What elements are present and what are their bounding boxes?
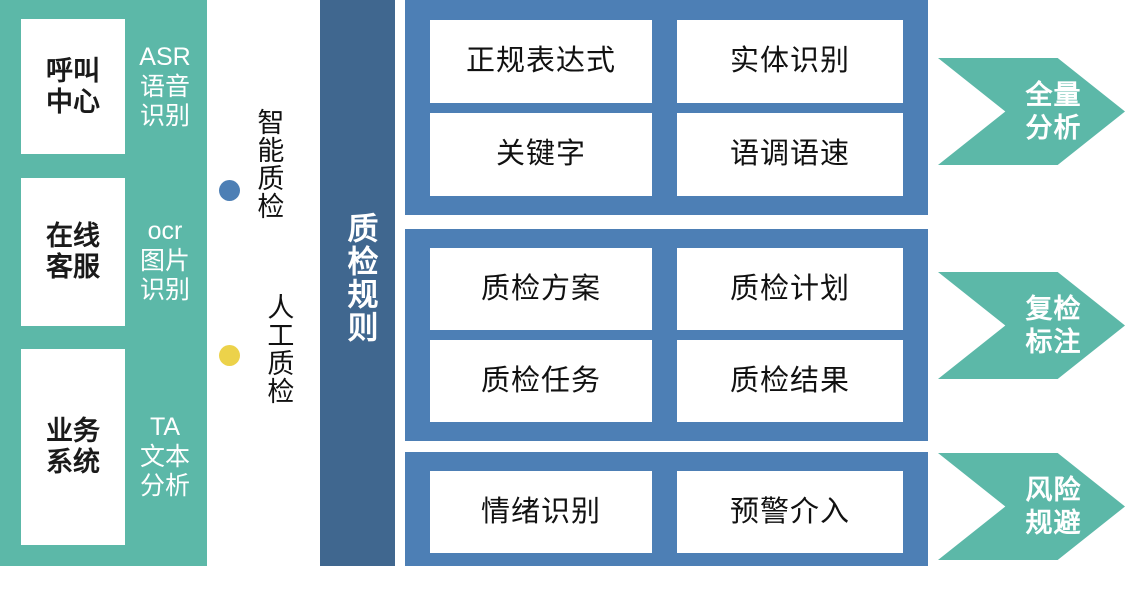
rule-cell-label: 质检任务 <box>481 367 601 396</box>
source-tag-asr: ASR 语音 识别 <box>130 43 200 132</box>
rule-cell[interactable]: 语调语速 <box>677 113 903 196</box>
rule-cell[interactable]: 实体识别 <box>677 20 903 103</box>
outcome-chevron-full-analysis[interactable]: 全量分析 <box>938 58 1125 165</box>
rule-cell-label: 正规表达式 <box>466 47 616 76</box>
mode-label-manual: 人工质检 <box>262 293 293 453</box>
diagram-canvas: 呼叫中心 ASR 语音 识别 在线客服 ocr 图片 识别 业务系统 TA 文本… <box>0 0 1129 603</box>
outcome-chevron-risk-avoidance[interactable]: 风险规避 <box>938 453 1125 560</box>
outcome-label: 全量分析 <box>1026 79 1082 144</box>
source-tag-line: 图片 <box>130 247 200 277</box>
rule-cell-label: 关键字 <box>496 140 586 169</box>
rule-cell[interactable]: 质检任务 <box>430 340 652 422</box>
outcome-label: 复检标注 <box>1026 293 1082 358</box>
source-card-label: 呼叫中心 <box>46 56 100 118</box>
outcome-chevron-recheck-annotation[interactable]: 复检标注 <box>938 272 1125 379</box>
source-tag-ta: TA 文本 分析 <box>130 413 200 502</box>
bullet-dot-icon <box>219 345 240 366</box>
quality-rules-label: 质检规则 <box>338 188 378 368</box>
source-card-call-center[interactable]: 呼叫中心 <box>21 19 125 154</box>
rule-cell-label: 语调语速 <box>730 140 850 169</box>
rule-cell-label: 质检结果 <box>730 367 850 396</box>
rule-cell[interactable]: 质检结果 <box>677 340 903 422</box>
rules-group-panel-2: 质检方案 质检计划 质检任务 质检结果 <box>405 229 928 441</box>
rule-cell-label: 质检计划 <box>730 275 850 304</box>
source-tag-line: TA <box>130 413 200 443</box>
quality-rules-bar[interactable]: 质检规则 <box>320 0 395 566</box>
rule-cell-label: 实体识别 <box>730 47 850 76</box>
rule-cell[interactable]: 质检计划 <box>677 248 903 330</box>
inspection-modes-column: 智能质检 人工质检 <box>207 0 320 603</box>
source-tag-line: ocr <box>130 217 200 247</box>
source-tag-line: 语音 <box>130 73 200 103</box>
outcome-label: 风险规避 <box>1026 474 1082 539</box>
rule-cell-label: 预警介入 <box>730 498 850 527</box>
source-card-label: 业务系统 <box>46 416 100 478</box>
rule-cell[interactable]: 情绪识别 <box>430 471 652 553</box>
rule-cell[interactable]: 正规表达式 <box>430 20 652 103</box>
rule-cell-label: 情绪识别 <box>481 498 601 527</box>
rule-cell[interactable]: 预警介入 <box>677 471 903 553</box>
bullet-dot-icon <box>219 180 240 201</box>
source-tag-line: 分析 <box>130 472 200 502</box>
source-tag-line: 识别 <box>130 102 200 132</box>
source-card-online-service[interactable]: 在线客服 <box>21 178 125 326</box>
source-tag-line: ASR <box>130 43 200 73</box>
rule-cell[interactable]: 质检方案 <box>430 248 652 330</box>
mode-label-intelligent: 智能质检 <box>252 108 283 268</box>
source-tag-line: 识别 <box>130 276 200 306</box>
rules-group-panel-3: 情绪识别 预警介入 <box>405 452 928 566</box>
rule-cell-label: 质检方案 <box>481 275 601 304</box>
data-sources-panel: 呼叫中心 ASR 语音 识别 在线客服 ocr 图片 识别 业务系统 TA 文本… <box>0 0 207 566</box>
rule-cell[interactable]: 关键字 <box>430 113 652 196</box>
source-card-label: 在线客服 <box>46 221 100 283</box>
source-tag-line: 文本 <box>130 443 200 473</box>
rules-group-panel-1: 正规表达式 实体识别 关键字 语调语速 <box>405 0 928 215</box>
source-tag-ocr: ocr 图片 识别 <box>130 217 200 306</box>
source-card-business-system[interactable]: 业务系统 <box>21 349 125 545</box>
